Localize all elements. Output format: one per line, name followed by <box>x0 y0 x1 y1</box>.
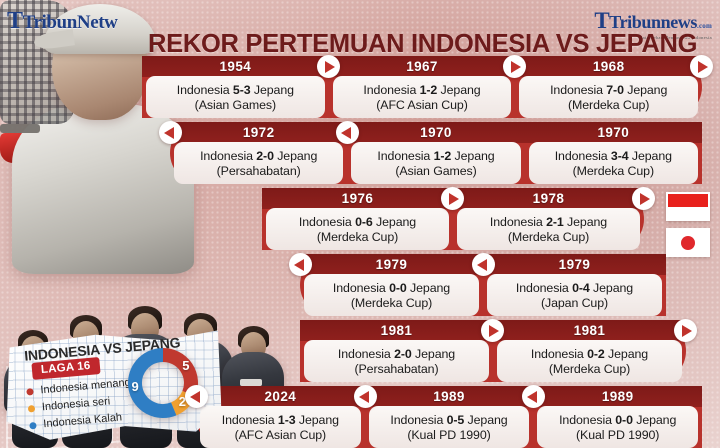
match-competition: (Kual PD 1990) <box>407 428 490 442</box>
donut-slice <box>135 355 174 411</box>
match-year: 1981 <box>300 320 493 341</box>
match-card: Indonesia 3-4 Jepang(Merdeka Cup) <box>529 142 698 184</box>
match-result: Indonesia 1-3 Jepang <box>222 413 339 427</box>
match-result: Indonesia 0-4 Jepang <box>516 281 633 295</box>
match-result: Indonesia 3-4 Jepang <box>555 149 672 163</box>
page-title: REKOR PERTEMUAN INDONESIA VS JEPANG <box>148 30 688 59</box>
match-year: 1979 <box>300 254 483 275</box>
match-result: Indonesia 0-2 Jepang <box>531 347 648 361</box>
match-year: 1970 <box>525 122 702 143</box>
timeline-row-cells: 1979Indonesia 0-0 Jepang(Merdeka Cup)197… <box>300 254 666 316</box>
match-competition: (Persahabatan) <box>217 164 301 178</box>
match-card: Indonesia 2-0 Jepang(Persahabatan) <box>174 142 343 184</box>
timeline-row: 1972Indonesia 2-0 Jepang(Persahabatan)19… <box>170 122 702 184</box>
match-card: Indonesia 0-2 Jepang(Merdeka Cup) <box>497 340 682 382</box>
match-competition: (Merdeka Cup) <box>317 230 398 244</box>
match-competition: (Merdeka Cup) <box>568 98 649 112</box>
match-result: Indonesia 7-0 Jepang <box>550 83 667 97</box>
timeline-row-cells: 2024Indonesia 1-3 Jepang(AFC Asian Cup)1… <box>196 386 702 448</box>
tribun-network-logo: TTribunNetw <box>7 8 118 35</box>
chart-legend: Indonesia menangIndonesia seriIndonesia … <box>26 377 135 437</box>
arrow-right-icon <box>674 319 697 342</box>
timeline-match[interactable]: 1989Indonesia 0-5 Jepang(Kual PD 1990) <box>365 386 534 448</box>
arrow-left-icon <box>354 385 377 408</box>
arrow-right-icon <box>632 187 655 210</box>
match-card: Indonesia 1-2 Jepang(AFC Asian Cup) <box>333 76 512 118</box>
arrow-left-icon <box>472 253 495 276</box>
match-card: Indonesia 2-0 Jepang(Persahabatan) <box>304 340 489 382</box>
match-card: Indonesia 5-3 Jepang(Asian Games) <box>146 76 325 118</box>
match-competition: (AFC Asian Cup) <box>376 98 467 112</box>
legend-item: Indonesia Kalah <box>29 410 134 431</box>
arrow-right-icon <box>317 55 340 78</box>
indonesia-flag-icon <box>666 192 710 221</box>
match-competition: (Kual PD 1990) <box>576 428 659 442</box>
donut-slice-value: 9 <box>132 379 139 394</box>
match-result: Indonesia 0-6 Jepang <box>299 215 416 229</box>
match-competition: (Merdeka Cup) <box>573 164 654 178</box>
japan-flag-icon <box>666 228 710 257</box>
timeline-row: 2024Indonesia 1-3 Jepang(AFC Asian Cup)1… <box>196 386 702 448</box>
timeline-row: 1954Indonesia 5-3 Jepang(Asian Games)196… <box>142 56 702 118</box>
timeline-row: 1979Indonesia 0-0 Jepang(Merdeka Cup)197… <box>300 254 666 316</box>
legend-label: Indonesia seri <box>41 395 110 413</box>
tribunnews-logo-domain: .com <box>697 22 712 30</box>
timeline-match[interactable]: 1970Indonesia 3-4 Jepang(Merdeka Cup) <box>525 122 702 184</box>
match-result: Indonesia 0-0 Jepang <box>559 413 676 427</box>
infographic-canvas: TTribunNetw TTribunnews.com Mata Lebar M… <box>0 0 720 448</box>
match-year: 2024 <box>196 386 365 407</box>
legend-color-dot <box>29 421 37 429</box>
match-card: Indonesia 0-0 Jepang(Kual PD 1990) <box>537 406 698 448</box>
match-year: 1979 <box>483 254 666 275</box>
timeline-match[interactable]: 1972Indonesia 2-0 Jepang(Persahabatan) <box>170 122 347 184</box>
timeline-row: 1981Indonesia 2-0 Jepang(Persahabatan)19… <box>300 320 686 382</box>
match-card: Indonesia 2-1 Jepang(Merdeka Cup) <box>457 208 640 250</box>
match-result: Indonesia 0-0 Jepang <box>333 281 450 295</box>
timeline-match[interactable]: 1979Indonesia 0-0 Jepang(Merdeka Cup) <box>300 254 483 316</box>
timeline-match[interactable]: 1978Indonesia 2-1 Jepang(Merdeka Cup) <box>453 188 644 250</box>
timeline-match[interactable]: 2024Indonesia 1-3 Jepang(AFC Asian Cup) <box>196 386 365 448</box>
timeline-match[interactable]: 1989Indonesia 0-0 Jepang(Kual PD 1990) <box>533 386 702 448</box>
match-year: 1989 <box>533 386 702 407</box>
legend-label: Indonesia Kalah <box>43 411 123 430</box>
timeline-match[interactable]: 1981Indonesia 2-0 Jepang(Persahabatan) <box>300 320 493 382</box>
match-year: 1967 <box>329 56 516 77</box>
match-year: 1981 <box>493 320 686 341</box>
arrow-right-icon <box>690 55 713 78</box>
legend-color-dot <box>26 388 34 396</box>
match-competition: (Merdeka Cup) <box>508 230 589 244</box>
flags-group <box>666 192 710 257</box>
timeline-match[interactable]: 1981Indonesia 0-2 Jepang(Merdeka Cup) <box>493 320 686 382</box>
timeline-match[interactable]: 1970Indonesia 1-2 Jepang(Asian Games) <box>347 122 524 184</box>
match-year: 1954 <box>142 56 329 77</box>
match-year: 1970 <box>347 122 524 143</box>
match-year: 1976 <box>262 188 453 209</box>
match-card: Indonesia 1-3 Jepang(AFC Asian Cup) <box>200 406 361 448</box>
legend-color-dot <box>28 404 36 412</box>
arrow-left-icon <box>185 385 208 408</box>
timeline-match[interactable]: 1968Indonesia 7-0 Jepang(Merdeka Cup) <box>515 56 702 118</box>
match-card: Indonesia 0-0 Jepang(Merdeka Cup) <box>304 274 479 316</box>
arrow-right-icon <box>481 319 504 342</box>
match-competition: (Japan Cup) <box>541 296 608 310</box>
match-competition: (Merdeka Cup) <box>351 296 432 310</box>
match-result: Indonesia 2-1 Jepang <box>490 215 607 229</box>
match-result: Indonesia 0-5 Jepang <box>390 413 507 427</box>
timeline-row-cells: 1972Indonesia 2-0 Jepang(Persahabatan)19… <box>170 122 702 184</box>
match-year: 1968 <box>515 56 702 77</box>
results-donut-chart: 529 <box>127 347 199 419</box>
timeline-row-cells: 1976Indonesia 0-6 Jepang(Merdeka Cup)197… <box>262 188 644 250</box>
match-card: Indonesia 0-5 Jepang(Kual PD 1990) <box>369 406 530 448</box>
match-competition: (Merdeka Cup) <box>549 362 630 376</box>
match-card: Indonesia 0-4 Jepang(Japan Cup) <box>487 274 662 316</box>
timeline-match[interactable]: 1954Indonesia 5-3 Jepang(Asian Games) <box>142 56 329 118</box>
match-result: Indonesia 1-2 Jepang <box>377 149 494 163</box>
timeline-match[interactable]: 1976Indonesia 0-6 Jepang(Merdeka Cup) <box>262 188 453 250</box>
match-card: Indonesia 7-0 Jepang(Merdeka Cup) <box>519 76 698 118</box>
match-result: Indonesia 2-0 Jepang <box>338 347 455 361</box>
tribunnews-logo-text: Tribunnews <box>609 12 697 32</box>
tribun-network-logo-text: TribunNetw <box>23 12 118 33</box>
timeline-match[interactable]: 1979Indonesia 0-4 Jepang(Japan Cup) <box>483 254 666 316</box>
match-competition: (Persahabatan) <box>354 362 438 376</box>
match-year: 1989 <box>365 386 534 407</box>
timeline-match[interactable]: 1967Indonesia 1-2 Jepang(AFC Asian Cup) <box>329 56 516 118</box>
match-card: Indonesia 0-6 Jepang(Merdeka Cup) <box>266 208 449 250</box>
match-year: 1972 <box>170 122 347 143</box>
arrow-right-icon <box>441 187 464 210</box>
match-result: Indonesia 1-2 Jepang <box>363 83 480 97</box>
timeline-row-cells: 1981Indonesia 2-0 Jepang(Persahabatan)19… <box>300 320 686 382</box>
match-competition: (Asian Games) <box>195 98 276 112</box>
match-card: Indonesia 1-2 Jepang(Asian Games) <box>351 142 520 184</box>
arrow-left-icon <box>159 121 182 144</box>
arrow-left-icon <box>289 253 312 276</box>
timeline-row-cells: 1954Indonesia 5-3 Jepang(Asian Games)196… <box>142 56 702 118</box>
match-result: Indonesia 2-0 Jepang <box>200 149 317 163</box>
match-result: Indonesia 5-3 Jepang <box>177 83 294 97</box>
donut-slice-value: 5 <box>182 358 189 373</box>
match-competition: (AFC Asian Cup) <box>235 428 326 442</box>
match-competition: (Asian Games) <box>395 164 476 178</box>
timeline-row: 1976Indonesia 0-6 Jepang(Merdeka Cup)197… <box>262 188 644 250</box>
match-year: 1978 <box>453 188 644 209</box>
